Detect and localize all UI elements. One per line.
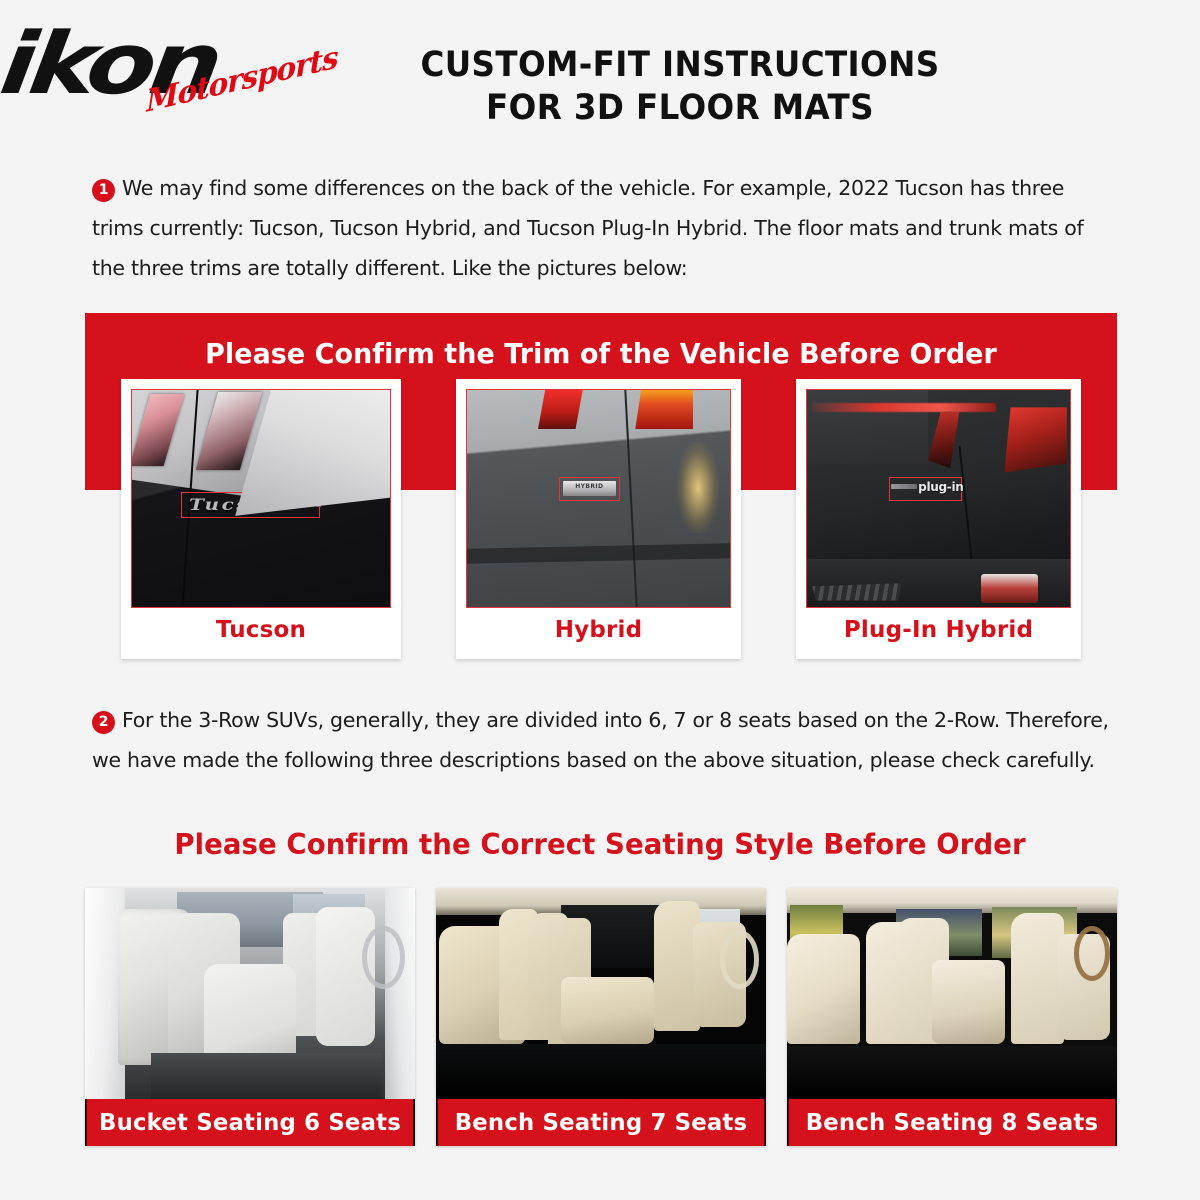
- instruction-page: ikon Motorsports CUSTOM-FIT INSTRUCTIONS…: [0, 0, 1200, 1200]
- trim-card-tucson[interactable]: Tucson Tucson: [121, 379, 401, 659]
- instruction-text-1: We may find some differences on the back…: [92, 176, 1083, 280]
- trim-banner-title: Please Confirm the Trim of the Vehicle B…: [106, 337, 1097, 370]
- taillight-right-shape: [196, 392, 262, 470]
- seating-caption-bench-8: Bench Seating 8 Seats: [789, 1099, 1116, 1146]
- reflection-glow: [677, 442, 719, 533]
- instruction-paragraph-1: 1We may find some differences on the bac…: [92, 168, 1114, 288]
- bench-seating-7-seats-photo: [436, 888, 766, 1099]
- step-number-badge-2: 2: [92, 711, 115, 734]
- step-number-badge-1: 1: [92, 179, 115, 202]
- trim-card-label-plugin-hybrid: Plug-In Hybrid: [806, 617, 1071, 643]
- seat-cushion-shape: [932, 960, 1005, 1044]
- trim-card-group: Tucson Tucson HYBRID Hybrid: [121, 379, 1081, 659]
- trim-card-label-tucson: Tucson: [131, 617, 391, 643]
- cabin-floor-shape: [787, 1046, 1117, 1099]
- seat-cushion-shape: [561, 977, 653, 1045]
- taillight-right-shape: [635, 390, 693, 429]
- tucson-rear-badge-photo: Tucson: [131, 389, 391, 608]
- taillight-center-shape: [928, 412, 960, 468]
- hybrid-badge-text: HYBRID: [563, 481, 616, 492]
- bench-seating-8-seats-photo: [787, 888, 1117, 1099]
- taillight-right-shape: [1004, 407, 1067, 472]
- bucket-seating-6-seats-photo: [85, 888, 415, 1099]
- body-panel-seam: [624, 390, 637, 607]
- steering-wheel-shape: [720, 930, 760, 989]
- page-title-line-2: FOR 3D FLOOR MATS: [355, 87, 1006, 130]
- seat-shape: [1011, 913, 1064, 1044]
- page-title: CUSTOM-FIT INSTRUCTIONS FOR 3D FLOOR MAT…: [330, 44, 1030, 129]
- seating-caption-bench-7: Bench Seating 7 Seats: [438, 1099, 765, 1146]
- hybrid-rear-badge-photo: HYBRID: [466, 389, 731, 608]
- cabin-floor-shape: [436, 1044, 766, 1099]
- page-header: ikon Motorsports CUSTOM-FIT INSTRUCTIONS…: [0, 0, 1200, 148]
- seat-shape: [787, 934, 860, 1044]
- seating-card-bucket-6[interactable]: Bucket Seating 6 Seats: [85, 888, 415, 1146]
- trim-card-label-hybrid: Hybrid: [466, 617, 731, 643]
- rear-glass-shape: [807, 390, 928, 464]
- plugin-hybrid-rear-badge-photo: plug-in: [806, 389, 1071, 608]
- seating-card-bench-8[interactable]: Bench Seating 8 Seats: [787, 888, 1117, 1146]
- trim-card-hybrid[interactable]: HYBRID Hybrid: [456, 379, 741, 659]
- plugin-badge-text-wrap: plug-in: [891, 480, 963, 494]
- taillight-left-shape: [131, 394, 184, 466]
- seating-caption-bucket-6: Bucket Seating 6 Seats: [87, 1099, 414, 1146]
- seating-card-bench-7[interactable]: Bench Seating 7 Seats: [436, 888, 766, 1146]
- hybrid-badge-chip: HYBRID: [563, 481, 616, 496]
- seating-card-group: Bucket Seating 6 Seats Bench Seating 7 S…: [85, 888, 1117, 1146]
- ikon-motorsports-logo: ikon Motorsports: [8, 22, 338, 132]
- led-lightbar-shape: [812, 403, 996, 412]
- steering-wheel-shape: [362, 926, 405, 989]
- rear-reflector-shape: [981, 574, 1039, 602]
- cabin-floor-shape: [151, 1053, 382, 1099]
- plugin-badge-text: plug-in: [918, 480, 963, 494]
- instruction-text-2: For the 3-Row SUVs, generally, they are …: [92, 708, 1109, 772]
- badge-prefix-mark: [891, 484, 917, 489]
- door-pillar-shape: [385, 888, 415, 1099]
- body-crease-strip: [467, 543, 730, 564]
- page-title-line-1: CUSTOM-FIT INSTRUCTIONS: [355, 44, 1006, 87]
- steering-wheel-shape: [1074, 926, 1110, 981]
- trim-card-plugin-hybrid[interactable]: plug-in Plug-In Hybrid: [796, 379, 1081, 659]
- instruction-paragraph-2: 2For the 3-Row SUVs, generally, they are…: [92, 700, 1114, 780]
- seating-confirm-heading: Please Confirm the Correct Seating Style…: [21, 828, 1179, 861]
- tucson-badge-text: Tucson: [189, 495, 283, 514]
- taillight-left-shape: [538, 390, 583, 429]
